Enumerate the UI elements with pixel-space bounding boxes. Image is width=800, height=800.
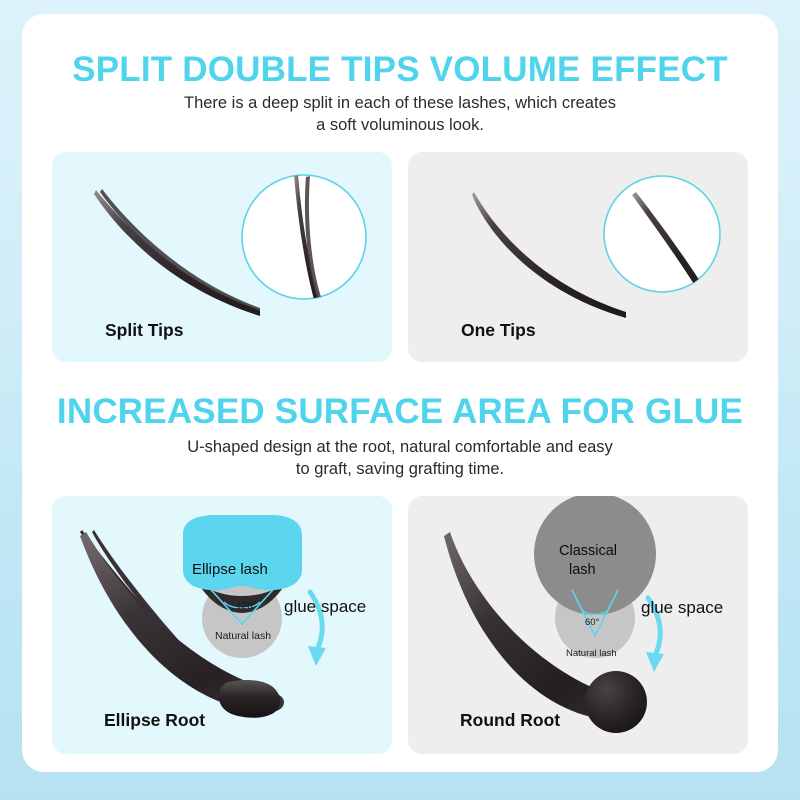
glue-space-label-left: glue space <box>284 597 366 617</box>
natural-lash-label-right: Natural lash <box>566 648 617 659</box>
round-root-illustration <box>408 496 748 754</box>
ellipse-lash-label: Ellipse lash <box>192 561 268 578</box>
subtitle-line-1: U-shaped design at the root, natural com… <box>0 436 800 458</box>
lash-body <box>94 190 260 316</box>
round-angle-label: 60° <box>585 617 599 628</box>
section-subtitle-split-tips: There is a deep split in each of these l… <box>0 92 800 136</box>
classical-lash-label-line-2: lash <box>569 562 596 578</box>
ellipse-root-illustration <box>52 496 392 754</box>
ellipse-angle-label: 120° <box>236 601 257 612</box>
section-subtitle-surface-area: U-shaped design at the root, natural com… <box>0 436 800 480</box>
ellipse-lash-shape <box>183 515 302 590</box>
panel-label-ellipse-root: Ellipse Root <box>104 710 205 731</box>
panel-label-split-tips: Split Tips <box>105 320 183 341</box>
ellipse-root-cap <box>219 680 280 718</box>
section-title-surface-area: INCREASED SURFACE AREA FOR GLUE <box>0 392 800 432</box>
round-root-cap <box>585 671 647 733</box>
natural-lash-label-left: Natural lash <box>215 630 271 642</box>
lash-split-hair <box>100 189 260 311</box>
section-title-split-tips: SPLIT DOUBLE TIPS VOLUME EFFECT <box>0 50 800 90</box>
glue-space-label-right: glue space <box>641 598 723 618</box>
glue-space-arrow-head <box>646 652 664 672</box>
infographic-page: SPLIT DOUBLE TIPS VOLUME EFFECT There is… <box>0 0 800 800</box>
split-tips-illustration <box>52 152 392 362</box>
panel-label-round-root: Round Root <box>460 710 560 731</box>
subtitle-line-2: to graft, saving grafting time. <box>0 458 800 480</box>
one-tip-illustration <box>408 152 748 362</box>
panel-one-tips <box>408 152 748 362</box>
subtitle-line-2: a soft voluminous look. <box>0 114 800 136</box>
lash-body <box>472 192 626 318</box>
panel-label-one-tips: One Tips <box>461 320 536 341</box>
panel-ellipse-root <box>52 496 392 754</box>
subtitle-line-1: There is a deep split in each of these l… <box>0 92 800 114</box>
panel-split-tips <box>52 152 392 362</box>
classical-lash-label-line-1: Classical <box>559 543 617 559</box>
panel-round-root <box>408 496 748 754</box>
glue-space-arrow-head <box>308 646 326 666</box>
